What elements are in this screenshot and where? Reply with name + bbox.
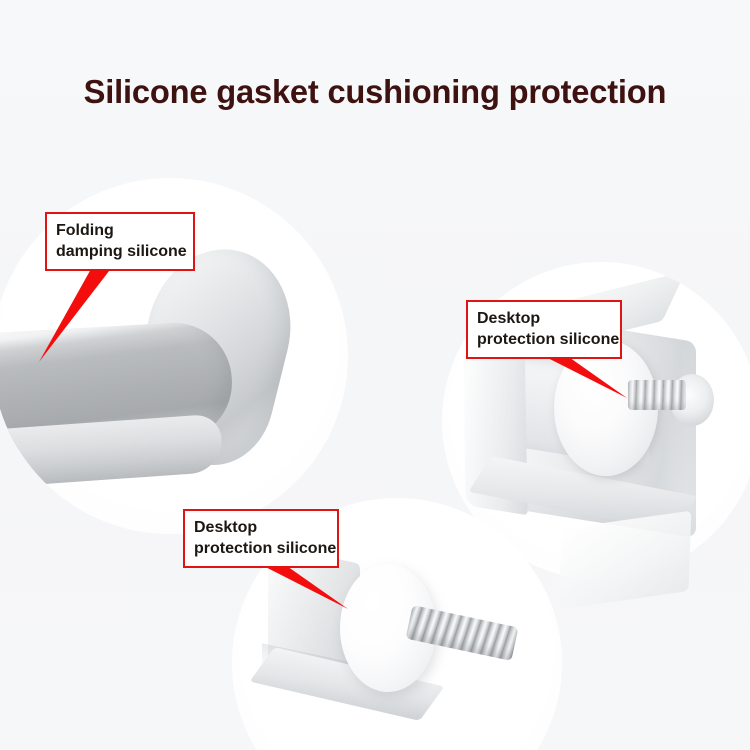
background-part-fragment [559, 511, 692, 610]
product-infographic: Silicone gasket cushioning protection [0, 0, 750, 750]
callout-desktop-clamp-line-1: Desktop [477, 308, 611, 329]
callout-box-desktop-bracket: Desktop protection silicone [183, 509, 339, 568]
callout-desktop-bracket-line-2: protection silicone [194, 538, 328, 559]
callout-folding-line-2: damping silicone [56, 241, 184, 262]
callout-arrow-folding-icon [20, 258, 140, 368]
callout-box-desktop-clamp: Desktop protection silicone [466, 300, 622, 359]
callout-desktop-bracket-line-1: Desktop [194, 517, 328, 538]
page-title: Silicone gasket cushioning protection [4, 72, 747, 112]
callout-desktop-clamp-line-2: protection silicone [477, 329, 611, 350]
callout-folding-line-1: Folding [56, 220, 184, 241]
callout-box-folding: Folding damping silicone [45, 212, 195, 271]
